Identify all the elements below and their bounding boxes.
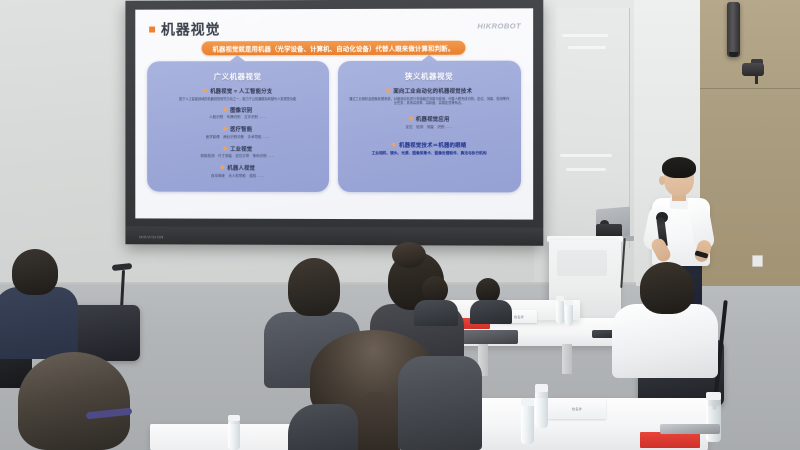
- presenter-ear: [659, 176, 665, 185]
- section-item: ◆ 机器人视觉 自动驾驶 无人机导航 巡检 ……: [154, 164, 321, 179]
- ptz-camera-arm: [755, 75, 758, 84]
- section-title: 工业视觉: [230, 145, 252, 153]
- attendee-hair-bun: [392, 242, 426, 268]
- section-body: 通过工业相机及图像处理系统，对被测目标进行非接触式测量与检测，代替人眼完成识别、…: [344, 96, 513, 106]
- water-bottle: [521, 404, 534, 444]
- attendee-back-left-navy: [0, 245, 84, 355]
- diamond-icon: ◆: [386, 88, 391, 94]
- attendee-head: [18, 352, 130, 450]
- bottle-cap: [521, 398, 534, 406]
- section-title: 机器视觉 = 人工智能分支: [210, 87, 272, 95]
- water-bottle: [535, 390, 548, 428]
- name-card-text: 姓名牌: [572, 407, 582, 411]
- section-body: 缺陷检测 尺寸测量 定位引导 条码识别 ……: [154, 154, 321, 160]
- attendee-head: [640, 262, 694, 314]
- section-body: 属于人工智能领域的机器视觉研究方向之一，致力于让机器模拟和替代人类视觉功能: [154, 97, 321, 102]
- diamond-icon: ◆: [223, 126, 228, 132]
- box-heading: 狭义机器视觉: [344, 71, 513, 82]
- diamond-icon: ◆: [223, 107, 228, 113]
- wall-outlet-icon: [752, 255, 763, 267]
- diamond-icon: ◆: [203, 88, 208, 94]
- diamond-icon: ◆: [223, 146, 228, 152]
- section-item: ◆ 机器视觉 = 人工智能分支 属于人工智能领域的机器视觉研究方向之一，致力于让…: [154, 87, 321, 102]
- section-body: 工业相机、镜头、光源、图像采集卡、图像处理软件、算法与执行机构: [344, 151, 513, 157]
- water-bottle: [706, 398, 721, 442]
- attendee-glasses-foreground-left: [18, 352, 148, 450]
- display-brand-label: HIKVISION: [139, 234, 163, 239]
- bottle-cap: [228, 415, 240, 421]
- wall-seam: [700, 88, 800, 89]
- laptop: [660, 424, 720, 434]
- water-bottle: [228, 420, 240, 450]
- section-body: 自动驾驶 无人机导航 巡检 ……: [154, 173, 321, 179]
- diamond-icon: ◆: [392, 142, 397, 148]
- bottle-cap: [535, 384, 548, 392]
- section-body: 人脸识别 车牌识别 文字识别 ……: [154, 115, 321, 120]
- attendee-head: [12, 249, 58, 295]
- slide-screen: 机器视觉 HIKROBOT 机器视觉就是用机器（光学设备、计算机、自动化设备）代…: [135, 8, 533, 219]
- attendee-ponytail: [354, 392, 400, 450]
- section-title: 图像识别: [230, 106, 252, 114]
- slide-content-boxes: 广义机器视觉 ◆ 机器视觉 = 人工智能分支 属于人工智能领域的机器视觉研究方向…: [147, 61, 521, 192]
- ptz-camera-icon: [742, 63, 764, 76]
- name-card: 姓名牌: [548, 398, 606, 419]
- slide-title-row: 机器视觉: [149, 19, 220, 39]
- page-title: 机器视觉: [161, 19, 220, 39]
- section-item: ◆ 医疗智能 医学影像 病灶识别诊断 手术导航 ……: [154, 125, 321, 140]
- section-title: 面向工业自动化的机器视觉技术: [393, 87, 472, 95]
- display-bezel: HIKVISION: [125, 226, 543, 245]
- table-leg: [562, 344, 572, 374]
- bottle-cap: [556, 296, 564, 301]
- attendee-torso: [0, 287, 78, 359]
- content-box-broad: 广义机器视觉 ◆ 机器视觉 = 人工智能分支 属于人工智能领域的机器视觉研究方向…: [147, 61, 328, 192]
- box-heading: 广义机器视觉: [154, 71, 321, 82]
- section-item: ◆ 面向工业自动化的机器视觉技术 通过工业相机及图像处理系统，对被测目标进行非接…: [344, 87, 513, 107]
- diamond-icon: ◆: [408, 116, 413, 122]
- attendee-white-shirt-right: [612, 262, 722, 382]
- section-title: 机器视觉技术＝机器的眼睛: [399, 141, 466, 149]
- podium-panel: [557, 250, 607, 276]
- attendee-far-back-row: [470, 278, 516, 322]
- section-body: 定位 检测 测量 识别 ……: [344, 125, 513, 130]
- section-item-highlighted: ◆ 机器视觉技术＝机器的眼睛 工业相机、镜头、光源、图像采集卡、图像处理软件、算…: [344, 141, 513, 156]
- water-bottle: [565, 304, 573, 326]
- attendee-head: [288, 258, 340, 316]
- content-box-narrow: 狭义机器视觉 ◆ 面向工业自动化的机器视觉技术 通过工业相机及图像处理系统，对被…: [337, 61, 521, 192]
- red-folder: [640, 432, 700, 448]
- screenshot-scene: 机器视觉 HIKROBOT 机器视觉就是用机器（光学设备、计算机、自动化设备）代…: [0, 0, 800, 450]
- diamond-icon: ◆: [220, 165, 225, 171]
- attendee-torso: [612, 304, 718, 378]
- bottle-cap: [706, 392, 721, 400]
- phone: [592, 330, 614, 338]
- section-item: ◆ 图像识别 人脸识别 车牌识别 文字识别 ……: [154, 106, 321, 121]
- wall-display[interactable]: 机器视觉 HIKROBOT 机器视觉就是用机器（光学设备、计算机、自动化设备）代…: [125, 0, 543, 246]
- section-title: 机器人视觉: [227, 164, 255, 172]
- section-title: 机器视觉应用: [416, 115, 450, 123]
- hikrobot-logo: HIKROBOT: [477, 21, 521, 30]
- attendee-torso: [470, 300, 512, 324]
- title-bullet-icon: [149, 27, 155, 33]
- speaker-cap: [729, 52, 738, 57]
- bottle-cap: [565, 300, 573, 305]
- attendee-torso: [414, 300, 458, 326]
- section-title: 医疗智能: [230, 125, 252, 133]
- section-body: 医学影像 病灶识别诊断 手术导航 ……: [154, 135, 321, 140]
- presenter-hair: [662, 157, 696, 178]
- water-bottle: [556, 300, 564, 324]
- slide-banner: 机器视觉就是用机器（光学设备、计算机、自动化设备）代替人眼来做计算和判断。: [202, 41, 466, 56]
- attendee-shoulder: [288, 404, 358, 450]
- section-item: ◆ 机器视觉应用 定位 检测 测量 识别 ……: [344, 115, 513, 130]
- attendee-torso: [398, 356, 482, 450]
- attendee-far-back-row: [414, 276, 462, 322]
- ceiling-speaker-icon: [727, 2, 740, 57]
- attendee-foreground-grey-torso: [398, 356, 484, 450]
- section-item: ◆ 工业视觉 缺陷检测 尺寸测量 定位引导 条码识别 ……: [154, 145, 321, 160]
